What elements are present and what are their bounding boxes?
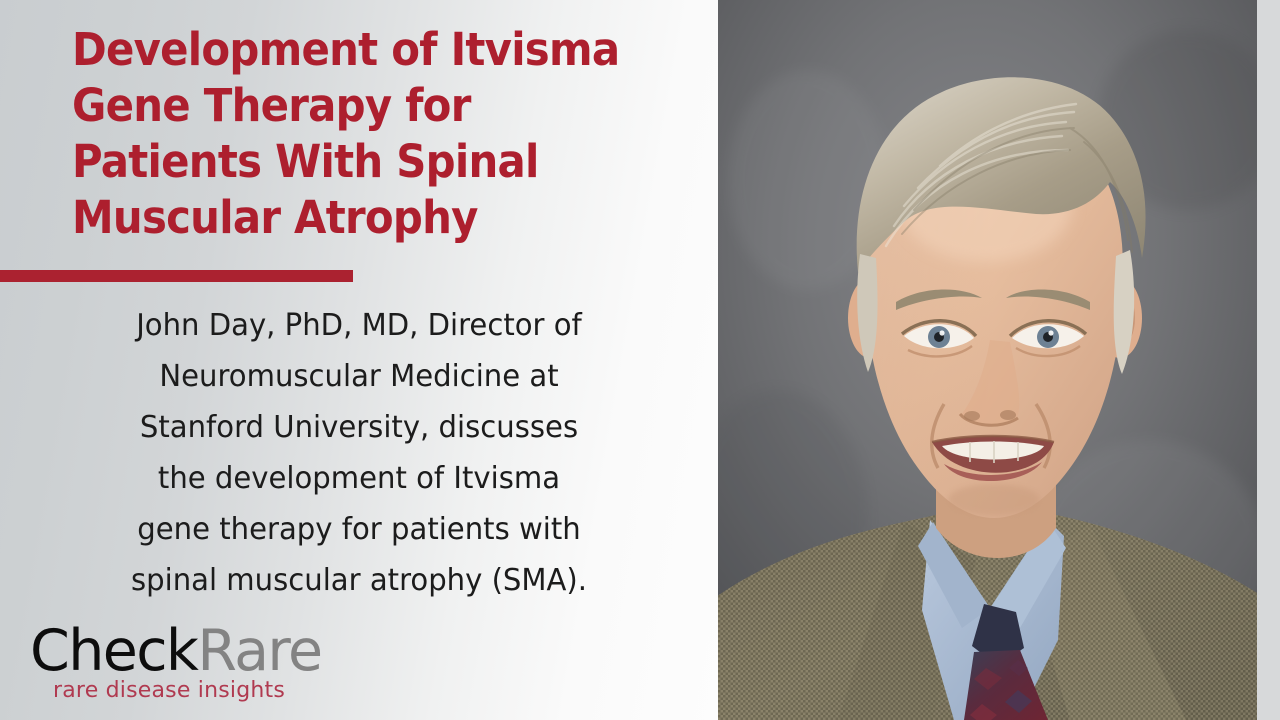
description-line-4: the development of Itvisma — [65, 453, 653, 504]
title-line-1: Development of Itvisma — [72, 22, 667, 78]
logo-tagline: rare disease insights — [30, 678, 308, 704]
slide-canvas: Development of Itvisma Gene Therapy for … — [0, 0, 1280, 720]
title-line-3: Patients With Spinal — [72, 134, 667, 190]
description-line-5: gene therapy for patients with — [65, 504, 653, 555]
description-line-1: John Day, PhD, MD, Director of — [65, 300, 653, 351]
description-line-2: Neuromuscular Medicine at — [65, 351, 653, 402]
logo-word-rare: Rare — [197, 618, 321, 684]
description-line-6: spinal muscular atrophy (SMA). — [65, 555, 653, 606]
title-line-2: Gene Therapy for — [72, 78, 667, 134]
title-underline-rule — [0, 270, 353, 282]
portrait-illustration — [718, 0, 1257, 720]
logo-wordmark: CheckRare — [30, 622, 330, 680]
logo-word-check: Check — [30, 618, 197, 684]
checkrare-logo[interactable]: CheckRare rare disease insights — [30, 622, 330, 704]
description-text: John Day, PhD, MD, Director of Neuromusc… — [56, 300, 662, 606]
page-title: Development of Itvisma Gene Therapy for … — [72, 22, 712, 246]
description-line-3: Stanford University, discusses — [65, 402, 653, 453]
left-text-panel: Development of Itvisma Gene Therapy for … — [0, 0, 718, 720]
title-line-4: Muscular Atrophy — [72, 190, 667, 246]
portrait-photo — [718, 0, 1257, 720]
photo-right-margin — [1257, 0, 1280, 720]
